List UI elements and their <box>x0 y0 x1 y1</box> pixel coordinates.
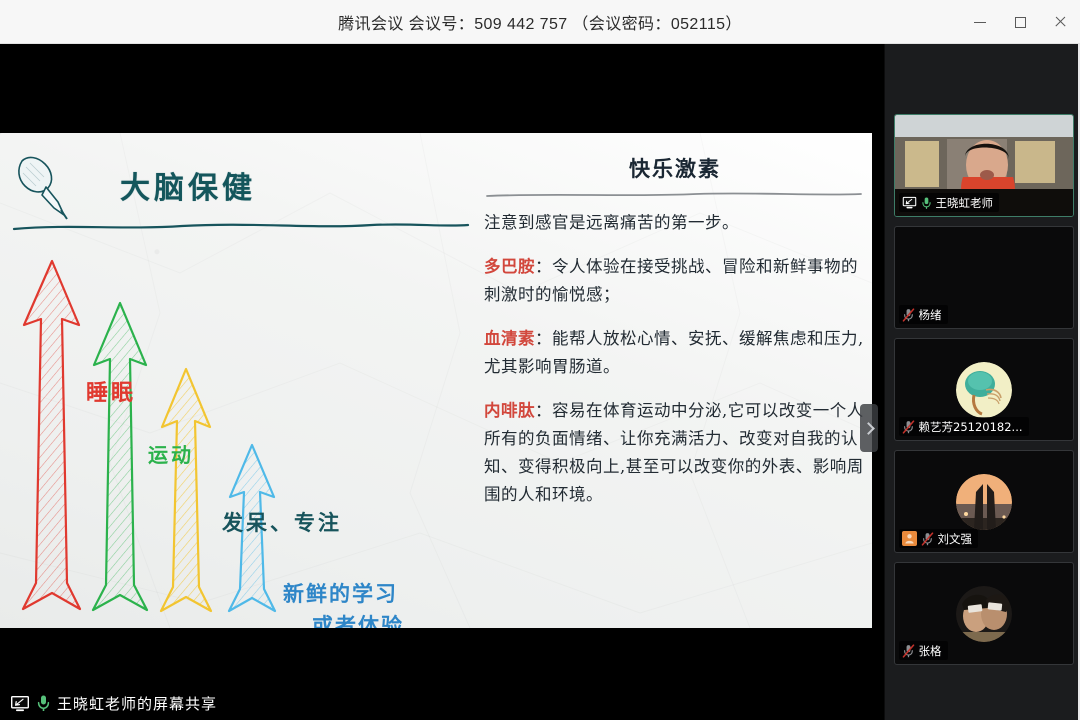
host-badge <box>902 531 917 546</box>
colon-dopamine: ： <box>535 257 552 276</box>
arrow-label-novelty-line1: 新鲜的学习 <box>283 578 398 608</box>
hormone-item-endorphin: 内啡肽：容易在体育运动中分泌,它可以改变一个人所有的负面情绪、让你充满活力、改变… <box>484 397 870 509</box>
shared-screen-stage[interactable]: 大脑保健 <box>0 44 884 720</box>
participant-name: 王晓虹老师 <box>936 195 994 211</box>
participant-tile[interactable]: 赖艺芳25120182... <box>894 338 1074 441</box>
window-controls <box>960 0 1080 44</box>
section-divider <box>486 191 862 199</box>
participant-label: 刘文强 <box>899 529 979 548</box>
hormone-item-dopamine: 多巴胺：令人体验在接受挑战、冒险和新鲜事物的刺激时的愉悦感； <box>484 253 870 309</box>
window-title: 腾讯会议 会议号：509 442 757 （会议密码：052115） <box>338 10 742 34</box>
hormone-term-serotonin: 血清素 <box>484 329 535 348</box>
maximize-button[interactable] <box>1000 0 1040 44</box>
microphone-icon <box>36 694 51 712</box>
shared-slide: 大脑保健 <box>0 133 872 628</box>
slide-title: 大脑保健 <box>120 163 256 207</box>
participant-label: 王晓虹老师 <box>899 193 1000 212</box>
participant-name: 杨绪 <box>919 307 942 323</box>
microphone-icon <box>921 196 932 210</box>
slide-left-panel: 大脑保健 <box>0 133 470 628</box>
participant-label: 杨绪 <box>899 305 948 324</box>
title-underline <box>12 221 470 233</box>
participant-name: 赖艺芳25120182... <box>919 419 1023 435</box>
collapse-panel-button[interactable] <box>860 404 878 452</box>
maximize-icon <box>1015 17 1026 28</box>
sleep-arrow <box>23 261 80 609</box>
share-status-text: 王晓虹老师的屏幕共享 <box>57 693 217 714</box>
arrow-label-focus: 发呆、专注 <box>222 507 342 537</box>
avatar <box>956 586 1012 642</box>
slide-body-text: 注意到感官是远离痛苦的第一步。 多巴胺：令人体验在接受挑战、冒险和新鲜事物的刺激… <box>484 209 870 525</box>
close-button[interactable] <box>1040 0 1080 44</box>
exercise-arrow <box>93 303 147 610</box>
avatar-image <box>956 362 1012 418</box>
hormone-term-endorphin: 内啡肽 <box>484 401 535 420</box>
avatar-image <box>956 586 1012 642</box>
participant-tile[interactable]: 刘文强 <box>894 450 1074 553</box>
participant-tile[interactable]: 张格 <box>894 562 1074 665</box>
participant-label: 赖艺芳25120182... <box>899 417 1029 436</box>
slide-intro-paragraph: 注意到感官是远离痛苦的第一步。 <box>484 209 870 237</box>
avatar <box>956 474 1012 530</box>
microphone-muted-icon <box>902 644 915 658</box>
arrow-label-novelty-line2: 或者体验 <box>312 610 404 628</box>
avatar <box>956 362 1012 418</box>
microphone-muted-icon <box>902 420 915 434</box>
screen-share-icon <box>902 196 917 209</box>
title-bar: 腾讯会议 会议号：509 442 757 （会议密码：052115） <box>0 0 1080 44</box>
participant-label: 张格 <box>899 641 948 660</box>
close-icon <box>1054 16 1066 28</box>
slide-section-title: 快乐激素 <box>478 153 872 183</box>
screen-share-icon <box>10 695 30 712</box>
participant-name: 刘文强 <box>938 531 973 547</box>
minimize-button[interactable] <box>960 0 1000 44</box>
pen-drawing-icon <box>14 153 72 223</box>
arrow-label-exercise: 运动 <box>148 439 194 468</box>
hormone-term-dopamine: 多巴胺 <box>484 257 535 276</box>
hormone-item-serotonin: 血清素：能帮人放松心情、安抚、缓解焦虑和压力,尤其影响胃肠道。 <box>484 325 870 381</box>
microphone-muted-icon <box>921 532 934 546</box>
focus-arrow <box>161 369 211 611</box>
slide-right-panel: 快乐激素 注意到感官是远离痛苦的第一步。 多巴胺：令人体验在接受挑战、冒险和新鲜… <box>478 133 872 628</box>
arrow-label-sleep: 睡眠 <box>86 375 136 407</box>
participant-panel[interactable]: 王晓虹老师 杨绪 <box>884 44 1080 720</box>
participant-tile[interactable]: 王晓虹老师 <box>894 114 1074 217</box>
screen-share-status-bar: 王晓虹老师的屏幕共享 <box>0 686 884 720</box>
microphone-muted-icon <box>902 308 915 322</box>
tencent-meeting-window: 腾讯会议 会议号：509 442 757 （会议密码：052115） <box>0 0 1080 720</box>
chevron-right-icon <box>862 422 875 435</box>
participant-tile[interactable]: 杨绪 <box>894 226 1074 329</box>
participant-name: 张格 <box>919 643 942 659</box>
avatar-image <box>956 474 1012 530</box>
minimize-icon <box>974 22 986 23</box>
colon-endorphin: ： <box>535 401 552 420</box>
person-icon <box>904 533 915 544</box>
colon-serotonin: ： <box>535 329 552 348</box>
